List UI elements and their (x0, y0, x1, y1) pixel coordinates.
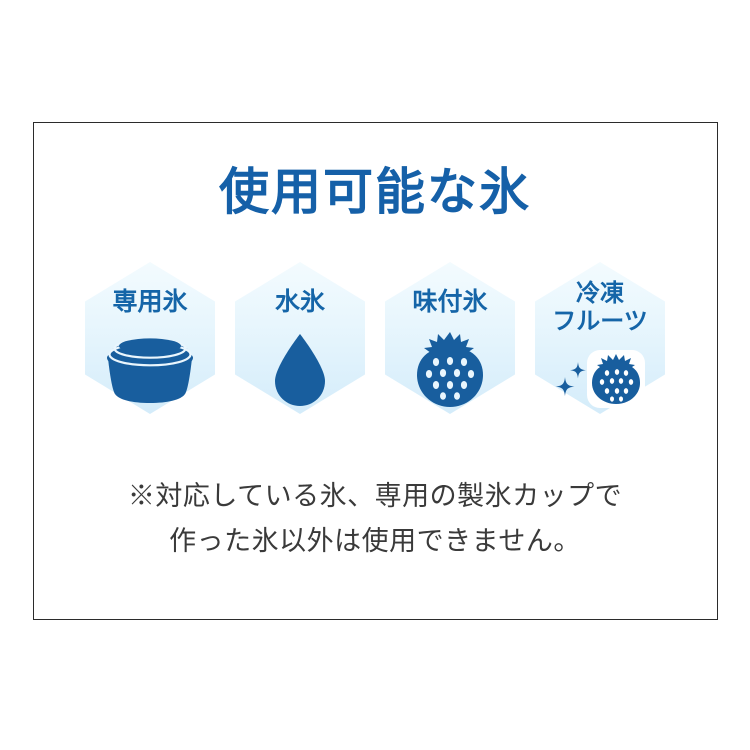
page-title: 使用可能な氷 (0, 166, 750, 219)
hexagon-background (85, 262, 215, 414)
ice-type-item-mizugori: 水氷 (225, 262, 375, 417)
ice-type-label-text: 水氷 (275, 288, 325, 316)
ice-type-list: 専用氷 水氷 (75, 262, 675, 417)
ice-type-label: 味付氷 (375, 288, 525, 316)
ice-type-label: 専用氷 (75, 288, 225, 316)
ice-type-item-reitofuruutsu: 冷凍 フルーツ (525, 262, 675, 417)
ice-type-label-text: 味付氷 (412, 288, 487, 316)
usage-note-line-2: 作った氷以外は使用できません。 (0, 519, 750, 564)
ice-type-label: 冷凍 フルーツ (525, 280, 675, 336)
usage-note: ※対応している氷、専用の製氷カップで 作った氷以外は使用できません。 (0, 474, 750, 563)
ice-type-label: 水氷 (225, 288, 375, 316)
usage-note-line-1: ※対応している氷、専用の製氷カップで (0, 474, 750, 519)
ice-type-label-text: 専用氷 (112, 288, 187, 316)
ice-type-label-line2: フルーツ (525, 308, 675, 336)
ice-type-label-line1: 冷凍 (525, 280, 675, 308)
promo-graphic: 使用可能な氷 専用氷 (0, 0, 750, 750)
hexagon-background (235, 262, 365, 414)
ice-type-item-ajitsukegori: 味付氷 (375, 262, 525, 417)
ice-type-item-senyohyo: 専用氷 (75, 262, 225, 417)
hexagon-background (385, 262, 515, 414)
